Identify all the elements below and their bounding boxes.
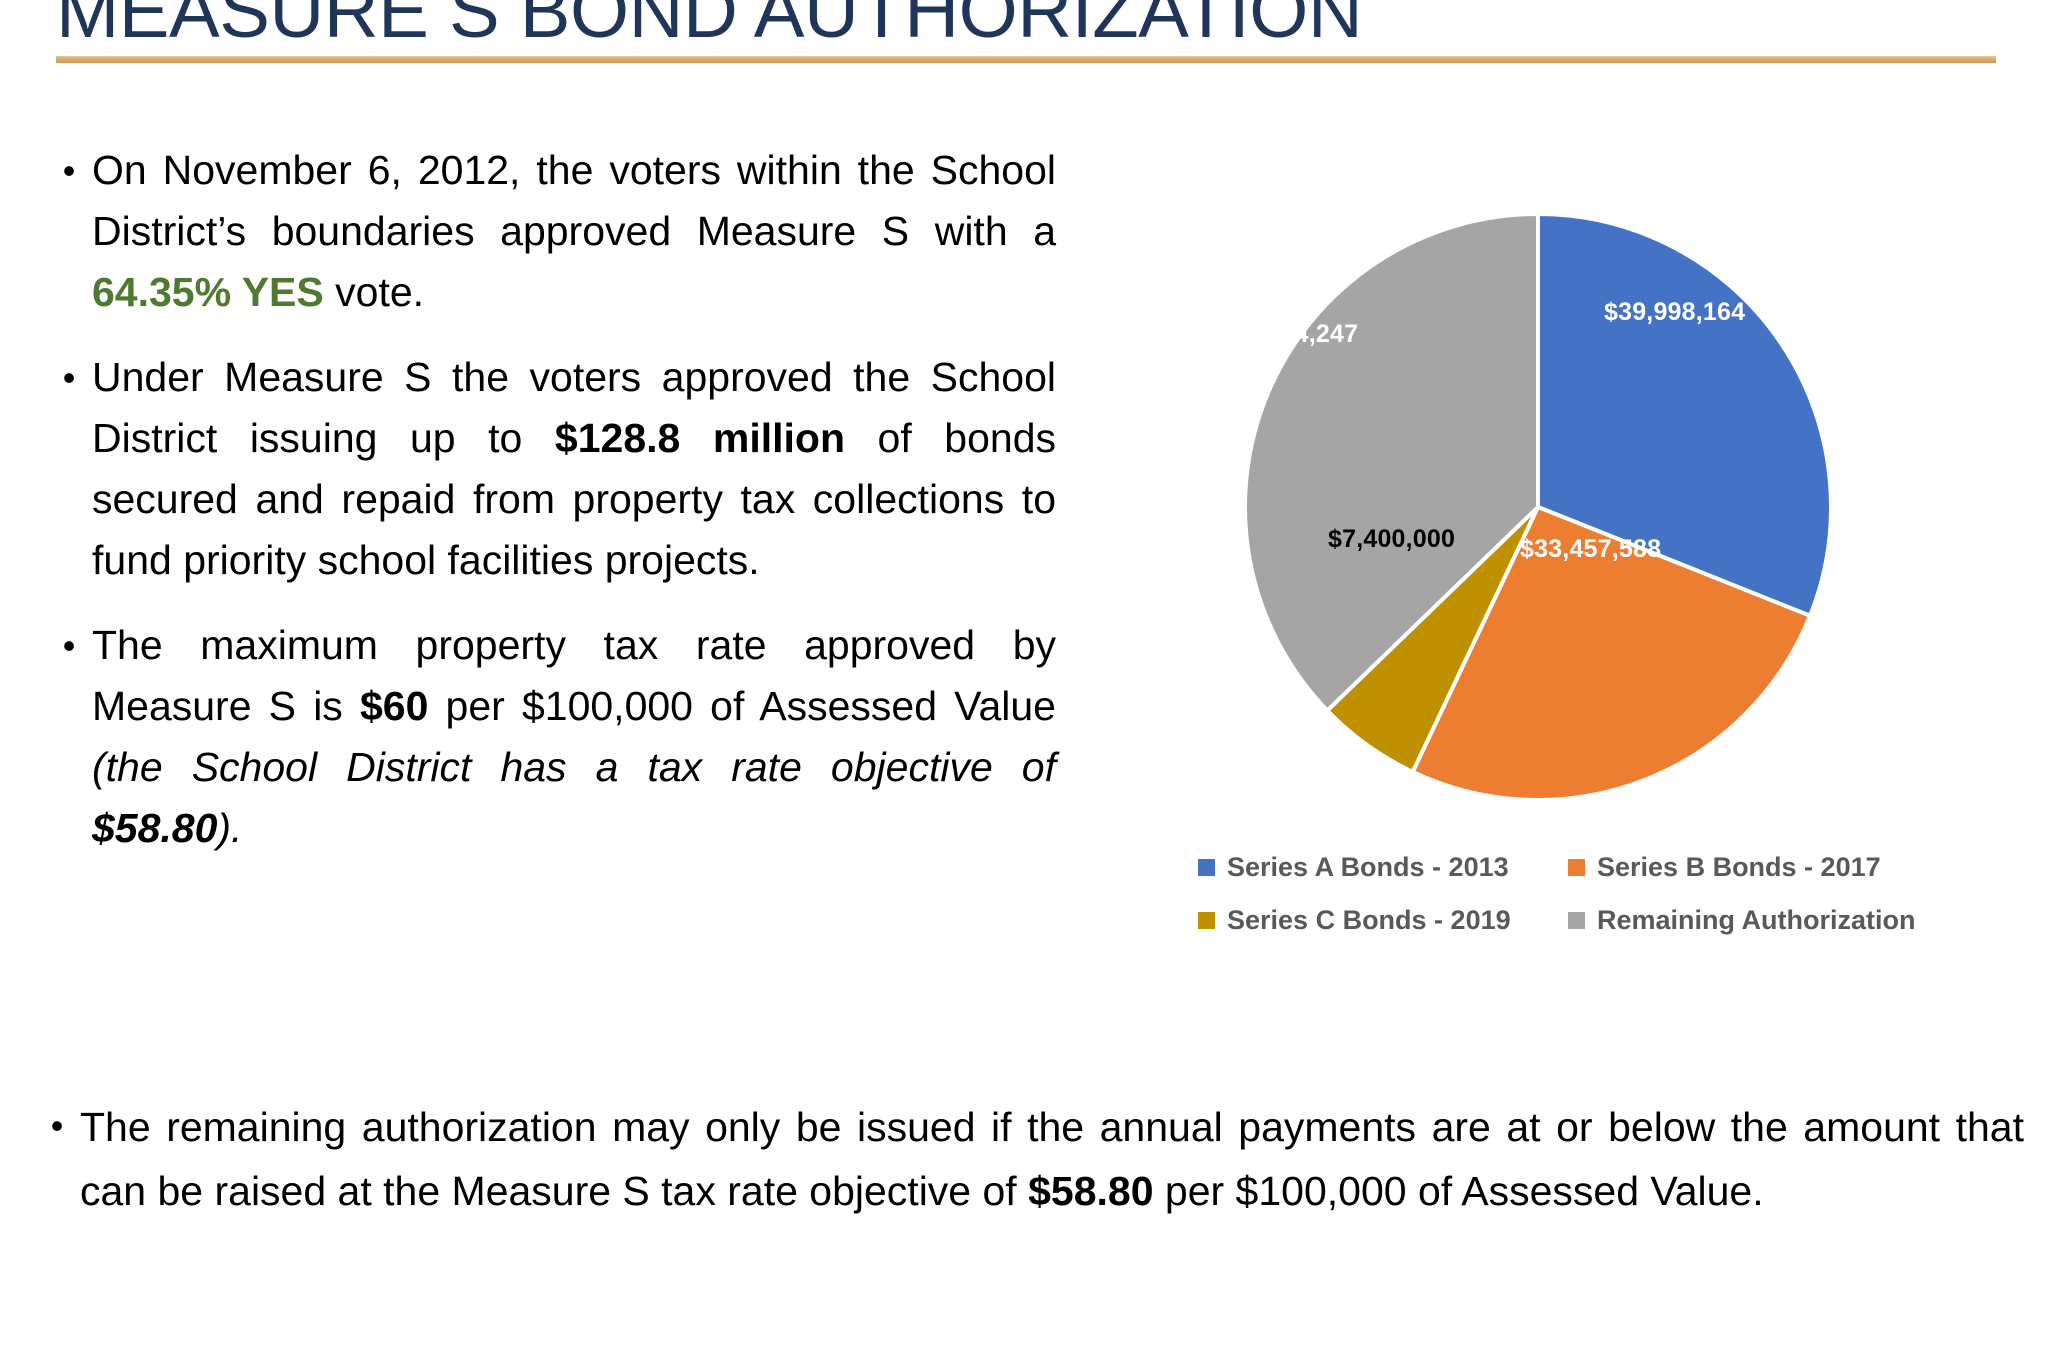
bullet-seg-text: vote. [324, 269, 424, 315]
pie-label-series-c: $7,400,000 [1328, 525, 1455, 554]
bullet-marker-icon: • [46, 347, 92, 408]
bullet-marker-icon: • [34, 1095, 80, 1156]
bond-authorization-pie-chart: $39,998,164 $33,457,588 $7,400,000 $47,9… [1180, 180, 1940, 980]
bullet-tax-rate: • The maximum property tax rate approved… [46, 615, 1056, 859]
legend-swatch-icon [1198, 912, 1215, 929]
bullet-seg-text: On November 6, 2012, the voters within t… [92, 147, 1056, 254]
legend-swatch-icon [1198, 859, 1215, 876]
tax-rate-objective-value: $58.80 [92, 805, 217, 851]
bullet-seg-text: per $100,000 of Assessed Value. [1154, 1168, 1764, 1214]
bullet-marker-icon: • [46, 615, 92, 676]
pie-chart-legend: Series A Bonds - 2013 Series B Bonds - 2… [1198, 852, 1938, 936]
bullet-bond-amount: • Under Measure S the voters approved th… [46, 347, 1056, 591]
bullet-voter-approval: • On November 6, 2012, the voters within… [46, 140, 1056, 323]
legend-item-series-c[interactable]: Series C Bonds - 2019 [1198, 905, 1568, 936]
legend-label-series-b: Series B Bonds - 2017 [1597, 852, 1881, 883]
legend-item-series-b[interactable]: Series B Bonds - 2017 [1568, 852, 1938, 883]
pie-chart-svg [1180, 180, 1880, 820]
max-tax-rate-value: $60 [360, 683, 428, 729]
pie-label-remaining: $47,944,247 [1217, 320, 1358, 349]
yes-vote-percentage: 64.35% YES [92, 269, 324, 315]
tax-rate-objective-note-end: ). [217, 805, 242, 851]
bullet-remaining-authorization: • The remaining authorization may only b… [34, 1095, 2024, 1223]
legend-swatch-icon [1568, 859, 1585, 876]
legend-label-series-c: Series C Bonds - 2019 [1227, 905, 1511, 936]
pie-label-series-a: $39,998,164 [1604, 298, 1745, 327]
bullet-marker-icon: • [46, 140, 92, 201]
bond-authorization-amount: $128.8 million [555, 415, 845, 461]
legend-item-remaining[interactable]: Remaining Authorization [1568, 905, 1938, 936]
legend-item-series-a[interactable]: Series A Bonds - 2013 [1198, 852, 1568, 883]
pie-label-series-b: $33,457,588 [1520, 535, 1661, 564]
bullet-list-bottom: • The remaining authorization may only b… [34, 1095, 2024, 1247]
page-title: MEASURE S BOND AUTHORIZATION [56, 0, 1996, 50]
bullet-remaining-authorization-text: The remaining authorization may only be … [80, 1095, 2024, 1223]
tax-rate-objective-value: $58.80 [1028, 1168, 1153, 1214]
legend-label-series-a: Series A Bonds - 2013 [1227, 852, 1509, 883]
bullet-list-left: • On November 6, 2012, the voters within… [46, 140, 1056, 883]
bullet-bond-amount-text: Under Measure S the voters approved the … [92, 347, 1056, 591]
bullet-voter-approval-text: On November 6, 2012, the voters within t… [92, 140, 1056, 323]
tax-rate-objective-note: (the School District has a tax rate obje… [92, 744, 1056, 790]
bullet-seg-text: per $100,000 of Assessed Value [428, 683, 1056, 729]
title-divider-rule [56, 56, 1996, 63]
legend-label-remaining: Remaining Authorization [1597, 905, 1916, 936]
legend-swatch-icon [1568, 912, 1585, 929]
pie-chart-graphic: $39,998,164 $33,457,588 $7,400,000 $47,9… [1180, 180, 1880, 820]
bullet-tax-rate-text: The maximum property tax rate approved b… [92, 615, 1056, 859]
